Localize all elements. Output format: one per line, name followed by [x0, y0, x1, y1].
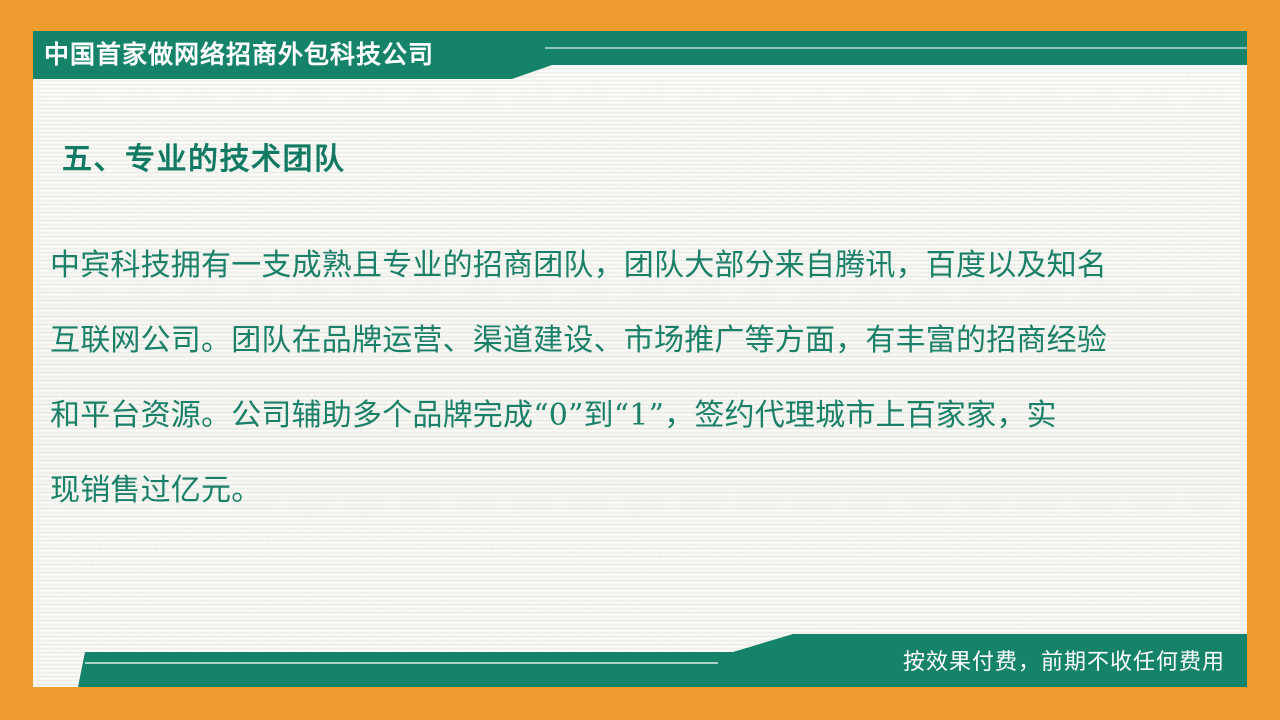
paragraph-line: 现销售过亿元。 — [50, 453, 1190, 528]
slide-root: 中国首家做网络招商外包科技公司 五、专业的技术团队 中宾科技拥有一支成熟且专业的… — [0, 0, 1280, 720]
body-paragraph: 中宾科技拥有一支成熟且专业的招商团队，团队大部分来自腾讯，百度以及知名 互联网公… — [50, 228, 1190, 528]
header-title: 中国首家做网络招商外包科技公司 — [44, 34, 564, 76]
paragraph-line: 互联网公司。团队在品牌运营、渠道建设、市场推广等方面，有丰富的招商经验 — [50, 303, 1190, 378]
footer-tagline: 按效果付费，前期不收任何费用 — [903, 645, 1225, 679]
section-heading: 五、专业的技术团队 — [62, 134, 346, 178]
paragraph-line: 中宾科技拥有一支成熟且专业的招商团队，团队大部分来自腾讯，百度以及知名 — [50, 228, 1190, 303]
paragraph-line: 和平台资源。公司辅助多个品牌完成“0”到“1”，签约代理城市上百家家，实 — [50, 378, 1190, 453]
